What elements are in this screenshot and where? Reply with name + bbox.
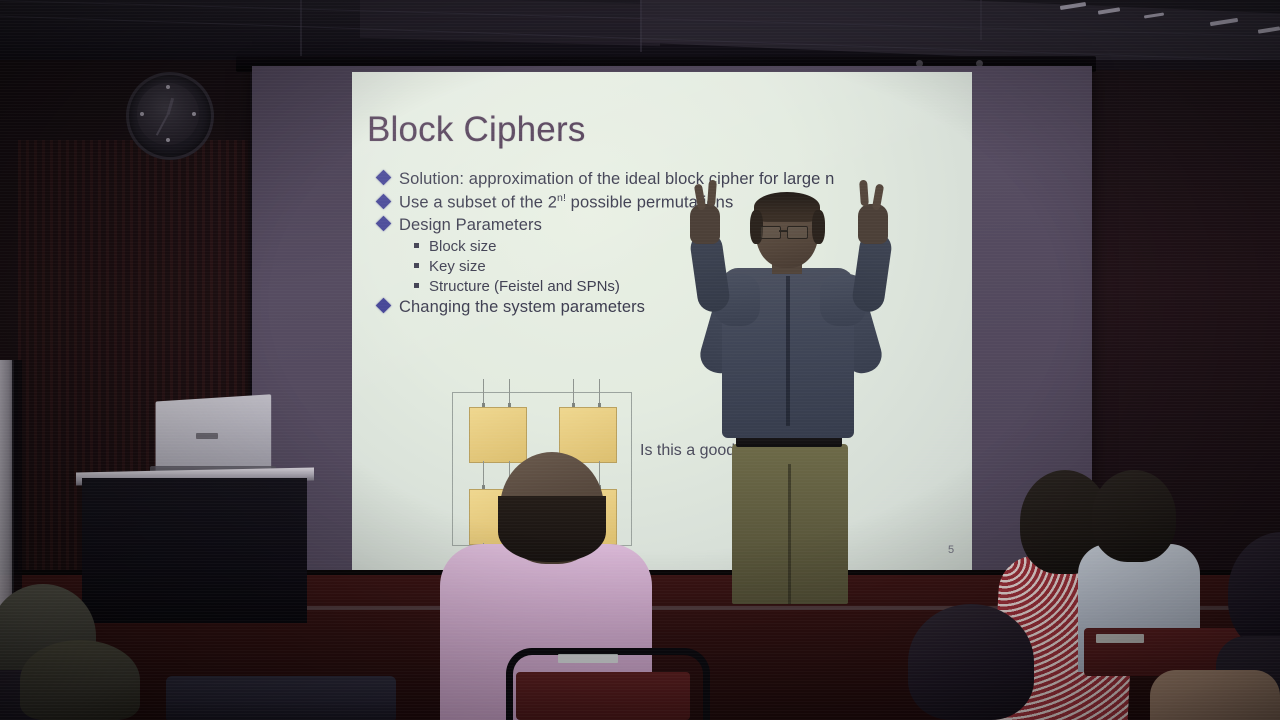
diagram-connector bbox=[572, 403, 575, 407]
sub-bullet-text: Block size bbox=[429, 238, 497, 255]
laptop-logo bbox=[196, 433, 218, 439]
slide-title: Block Ciphers bbox=[367, 110, 586, 150]
audience-head bbox=[908, 604, 1034, 720]
diagram-connector bbox=[482, 403, 485, 407]
bullet-item: Solution: approximation of the ideal blo… bbox=[378, 170, 958, 189]
sub-bullet-text: Key size bbox=[429, 258, 486, 275]
audience-shoulder bbox=[1150, 670, 1280, 720]
bullet-text: Changing the system parameters bbox=[399, 298, 645, 317]
chair-seat bbox=[516, 672, 690, 720]
presenter-glasses bbox=[787, 226, 808, 239]
chair-label bbox=[558, 654, 618, 663]
presenter-hair-side bbox=[812, 210, 825, 244]
bullet-superscript: n! bbox=[557, 192, 566, 204]
square-bullet-icon bbox=[414, 263, 419, 268]
presenter-glasses-bridge bbox=[779, 230, 787, 232]
clock-tick bbox=[166, 85, 170, 89]
wall-clock bbox=[126, 72, 214, 160]
square-bullet-icon bbox=[414, 243, 419, 248]
lecture-hall-scene: Block Ciphers Solution: approximation of… bbox=[0, 0, 1280, 720]
audience-hair bbox=[498, 496, 606, 562]
presenter-glasses bbox=[760, 226, 781, 239]
diamond-bullet-icon bbox=[376, 215, 392, 231]
diamond-bullet-icon bbox=[376, 193, 392, 209]
audience-member-bottom-left bbox=[20, 640, 150, 720]
presenter-shirt-placket bbox=[786, 276, 790, 426]
clock-tick bbox=[166, 138, 170, 142]
presenter-leg-seam bbox=[788, 464, 791, 604]
audience-head bbox=[20, 640, 140, 720]
presenter-hair bbox=[754, 192, 820, 222]
audience-member-far-right-shoulder bbox=[1150, 660, 1280, 720]
audience-member-bottom-right bbox=[880, 604, 1080, 720]
clock-hand-minute bbox=[156, 114, 169, 136]
sub-bullet-text: Structure (Feistel and SPNs) bbox=[429, 278, 620, 295]
clock-face bbox=[137, 83, 199, 145]
diamond-bullet-icon bbox=[376, 170, 392, 186]
audience-head bbox=[1092, 470, 1176, 562]
presenter-hand-left bbox=[690, 204, 720, 244]
bullet-text: Design Parameters bbox=[399, 216, 542, 235]
presenter bbox=[660, 190, 960, 590]
clock-hand-hour bbox=[167, 98, 175, 115]
bullet-text: Solution: approximation of the ideal blo… bbox=[399, 170, 834, 189]
chair-label bbox=[1096, 634, 1144, 643]
diagram-connector bbox=[598, 403, 601, 407]
presenter-hand-right bbox=[858, 204, 888, 244]
clock-tick bbox=[140, 112, 144, 116]
audience-head bbox=[1228, 532, 1280, 652]
diagram-connector bbox=[508, 403, 511, 407]
clock-tick bbox=[192, 112, 196, 116]
presenter-finger bbox=[859, 180, 869, 206]
chair-back bbox=[166, 676, 396, 720]
bullet-text-before: Use a subset of the 2 bbox=[399, 194, 557, 212]
square-bullet-icon bbox=[414, 283, 419, 288]
diamond-bullet-icon bbox=[376, 297, 392, 313]
presenter-finger bbox=[707, 180, 717, 206]
door-frame-shadow bbox=[12, 360, 22, 610]
